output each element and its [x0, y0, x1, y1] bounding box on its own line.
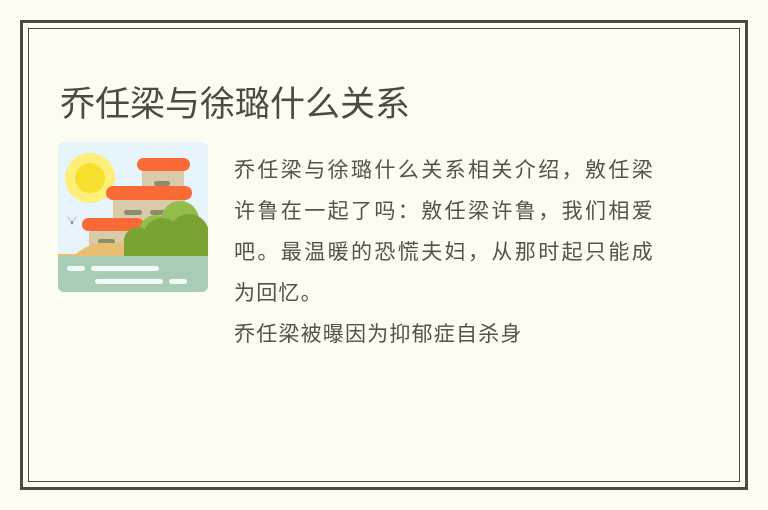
page-title: 乔任梁与徐璐什么关系 — [60, 83, 410, 127]
article-page: 乔任梁与徐璐什么关系 — [0, 0, 768, 510]
article-paragraph: 乔任梁与徐璐什么关系相关介绍，敫任梁许鲁在一起了吗：敫任梁许鲁，我们相爱吧。最温… — [234, 150, 654, 314]
article-thumbnail-image — [58, 142, 208, 292]
page-content: 乔任梁与徐璐什么关系 — [28, 28, 740, 482]
seaside-town-illustration-icon — [58, 142, 208, 292]
article-paragraph: 乔任梁被曝因为抑郁症自杀身 — [234, 314, 654, 355]
article-text: 乔任梁与徐璐什么关系相关介绍，敫任梁许鲁在一起了吗：敫任梁许鲁，我们相爱吧。最温… — [234, 150, 654, 355]
